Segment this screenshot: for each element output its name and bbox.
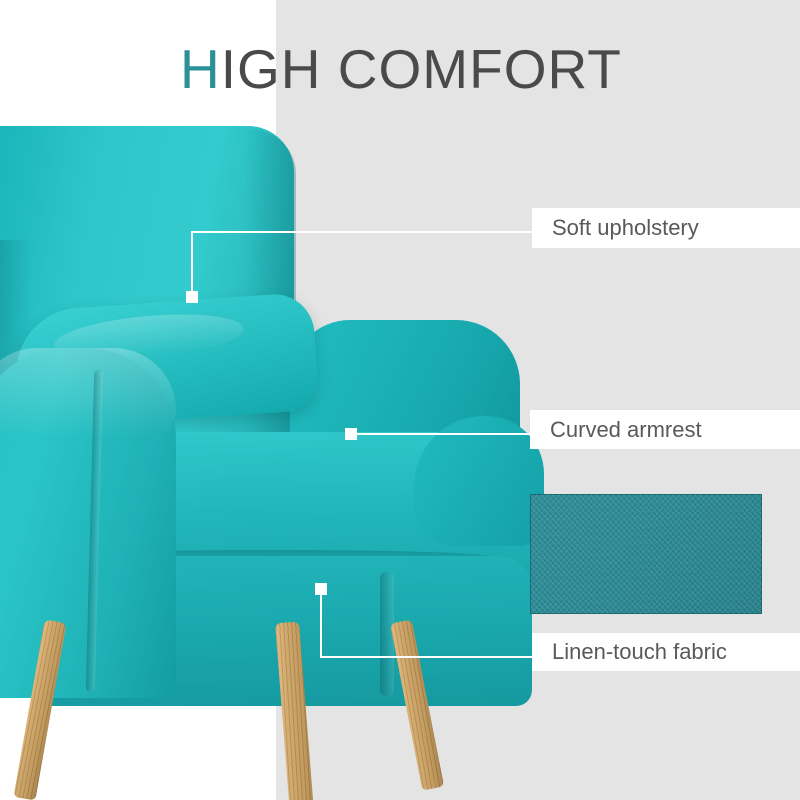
fabric-swatch <box>530 494 762 614</box>
callout-line-vertical-soft-upholstery <box>191 231 193 293</box>
callout-label-linen-touch-fabric: Linen-touch fabric <box>532 633 800 671</box>
callout-line-horizontal-curved-armrest <box>357 433 537 435</box>
product-image-armchair <box>0 120 554 800</box>
callout-text-soft-upholstery: Soft upholstery <box>552 215 699 241</box>
callout-marker-curved-armrest <box>345 428 357 440</box>
callout-text-curved-armrest: Curved armrest <box>550 417 702 443</box>
callout-marker-linen-touch-fabric <box>315 583 327 595</box>
callout-label-soft-upholstery: Soft upholstery <box>532 208 800 248</box>
title-accent-letter: H <box>180 38 221 100</box>
callout-line-horizontal-soft-upholstery <box>191 231 536 233</box>
callout-label-curved-armrest: Curved armrest <box>530 410 800 449</box>
fabric-swatch-texture <box>531 495 761 613</box>
page-title: HIGH COMFORT <box>180 42 622 97</box>
product-feature-graphic: HIGH COMFORT Soft upholstery Curved armr… <box>0 0 800 800</box>
callout-line-vertical-linen-touch-fabric <box>320 595 322 658</box>
callout-line-horizontal-linen-touch-fabric <box>320 656 536 658</box>
title-rest: IGH COMFORT <box>221 38 622 100</box>
callout-text-linen-touch-fabric: Linen-touch fabric <box>552 639 727 665</box>
armrest-highlight <box>0 348 176 438</box>
